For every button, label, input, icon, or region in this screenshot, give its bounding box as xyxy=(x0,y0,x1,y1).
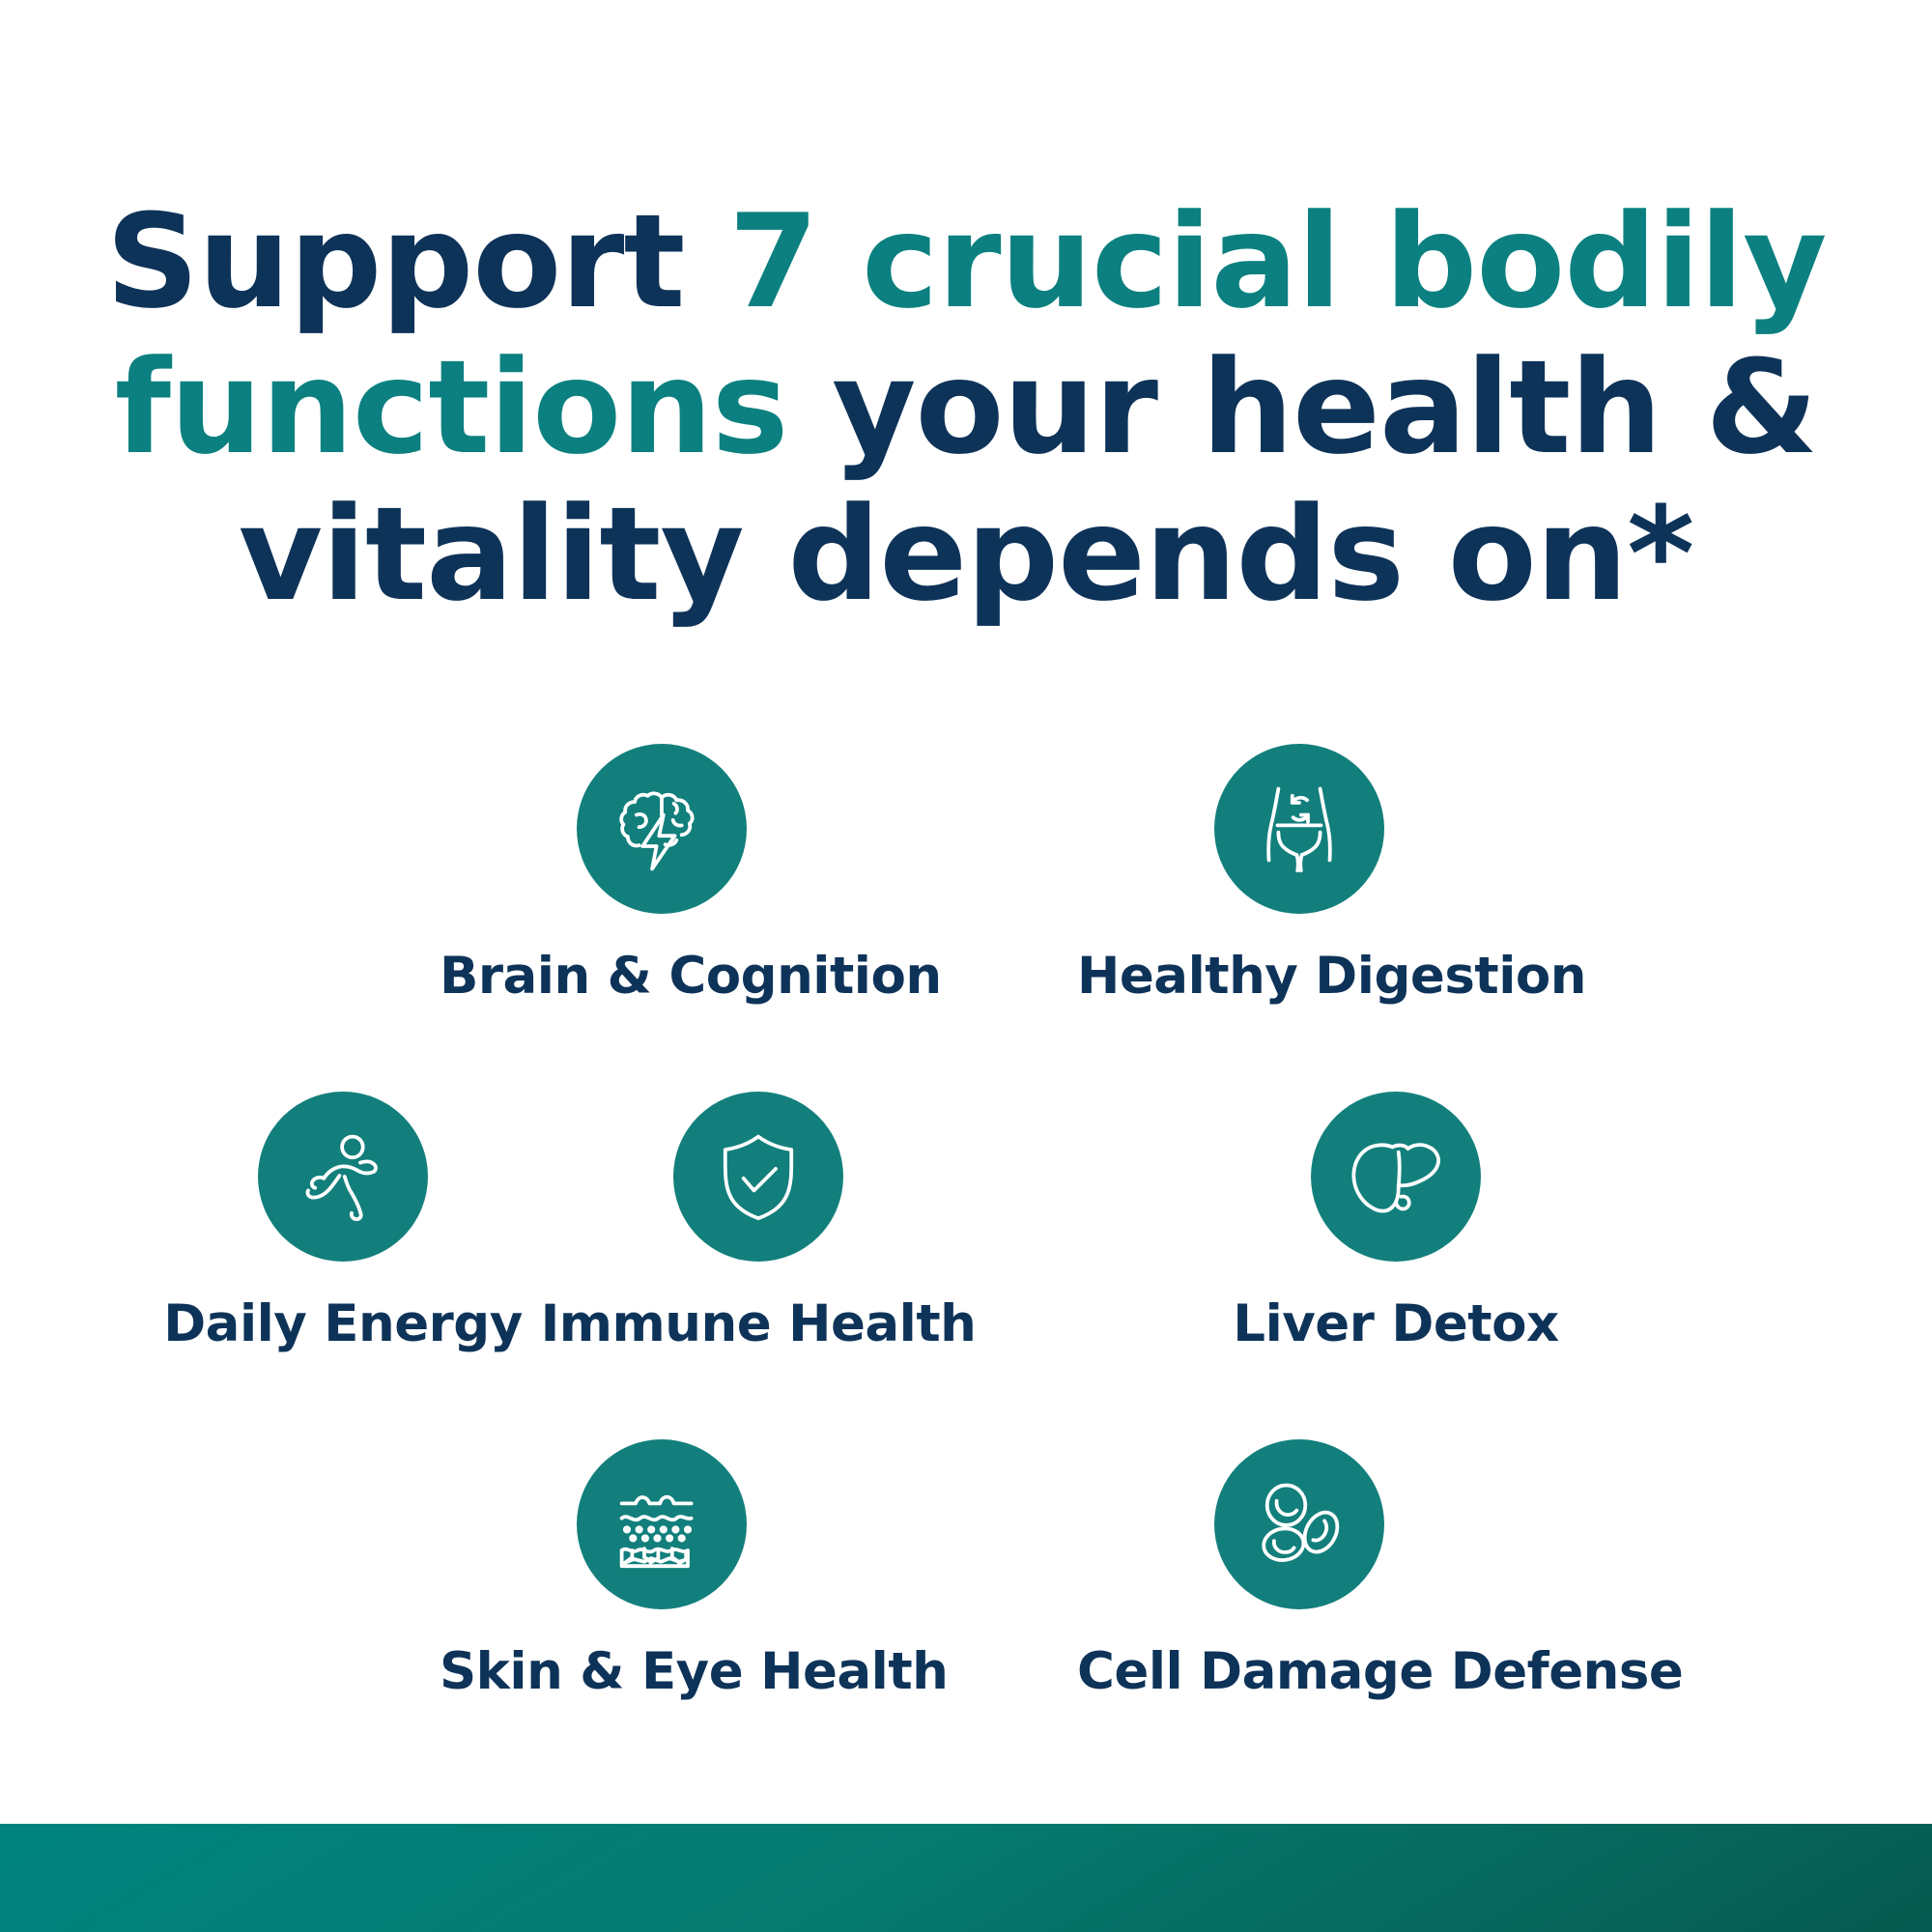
torso-refresh-icon xyxy=(1247,777,1351,881)
blood-cells-icon xyxy=(1247,1472,1351,1577)
benefit-item-healthy-digestion: Healthy Digestion xyxy=(1077,744,1521,1006)
benefit-icon-bubble xyxy=(258,1092,428,1262)
benefit-label: Healthy Digestion xyxy=(1077,947,1521,1006)
shield-check-icon xyxy=(706,1124,810,1229)
bottom-accent-bar xyxy=(0,1824,1932,1932)
benefit-item-immune-health: Immune Health xyxy=(536,1092,980,1353)
skin-layers-icon xyxy=(610,1472,714,1577)
benefit-icon-bubble xyxy=(577,744,747,914)
benefit-icon-bubble xyxy=(673,1092,843,1262)
headline-line-3: vitality depends on* xyxy=(97,482,1835,628)
benefit-label: Brain & Cognition xyxy=(440,947,884,1006)
benefit-item-skin-eye-health: Skin & Eye Health xyxy=(440,1439,884,1701)
headline-segment-navy-2: your health & xyxy=(832,332,1817,483)
benefit-label: Immune Health xyxy=(536,1294,980,1353)
benefit-icon-bubble xyxy=(1214,744,1384,914)
benefits-grid: Brain & Cognition Healthy xyxy=(0,744,1932,1768)
headline-line-1: Support 7 crucial bodily xyxy=(97,189,1835,335)
marketing-poster: Support 7 crucial bodily functions your … xyxy=(0,0,1932,1932)
benefit-icon-bubble xyxy=(577,1439,747,1609)
headline-segment-navy-1: Support xyxy=(106,186,729,337)
benefit-item-cell-damage-defense: Cell Damage Defense xyxy=(1077,1439,1521,1701)
headline-line-2: functions your health & xyxy=(97,335,1835,481)
benefit-item-brain-cognition: Brain & Cognition xyxy=(440,744,884,1006)
benefit-label: Liver Detox xyxy=(1174,1294,1618,1353)
headline-segment-teal-2: functions xyxy=(115,332,832,483)
page-title: Support 7 crucial bodily functions your … xyxy=(97,189,1835,628)
benefit-item-daily-energy: Daily Energy xyxy=(121,1092,565,1353)
liver-icon xyxy=(1344,1124,1448,1229)
benefit-label: Skin & Eye Health xyxy=(440,1642,884,1701)
brain-lightning-icon xyxy=(610,777,714,881)
benefit-icon-bubble xyxy=(1214,1439,1384,1609)
benefit-item-liver-detox: Liver Detox xyxy=(1174,1092,1618,1353)
benefit-label: Cell Damage Defense xyxy=(1077,1642,1521,1701)
benefit-label: Daily Energy xyxy=(121,1294,565,1353)
running-person-icon xyxy=(291,1124,395,1229)
headline-segment-teal-1: 7 crucial bodily xyxy=(728,186,1826,337)
benefit-icon-bubble xyxy=(1311,1092,1481,1262)
